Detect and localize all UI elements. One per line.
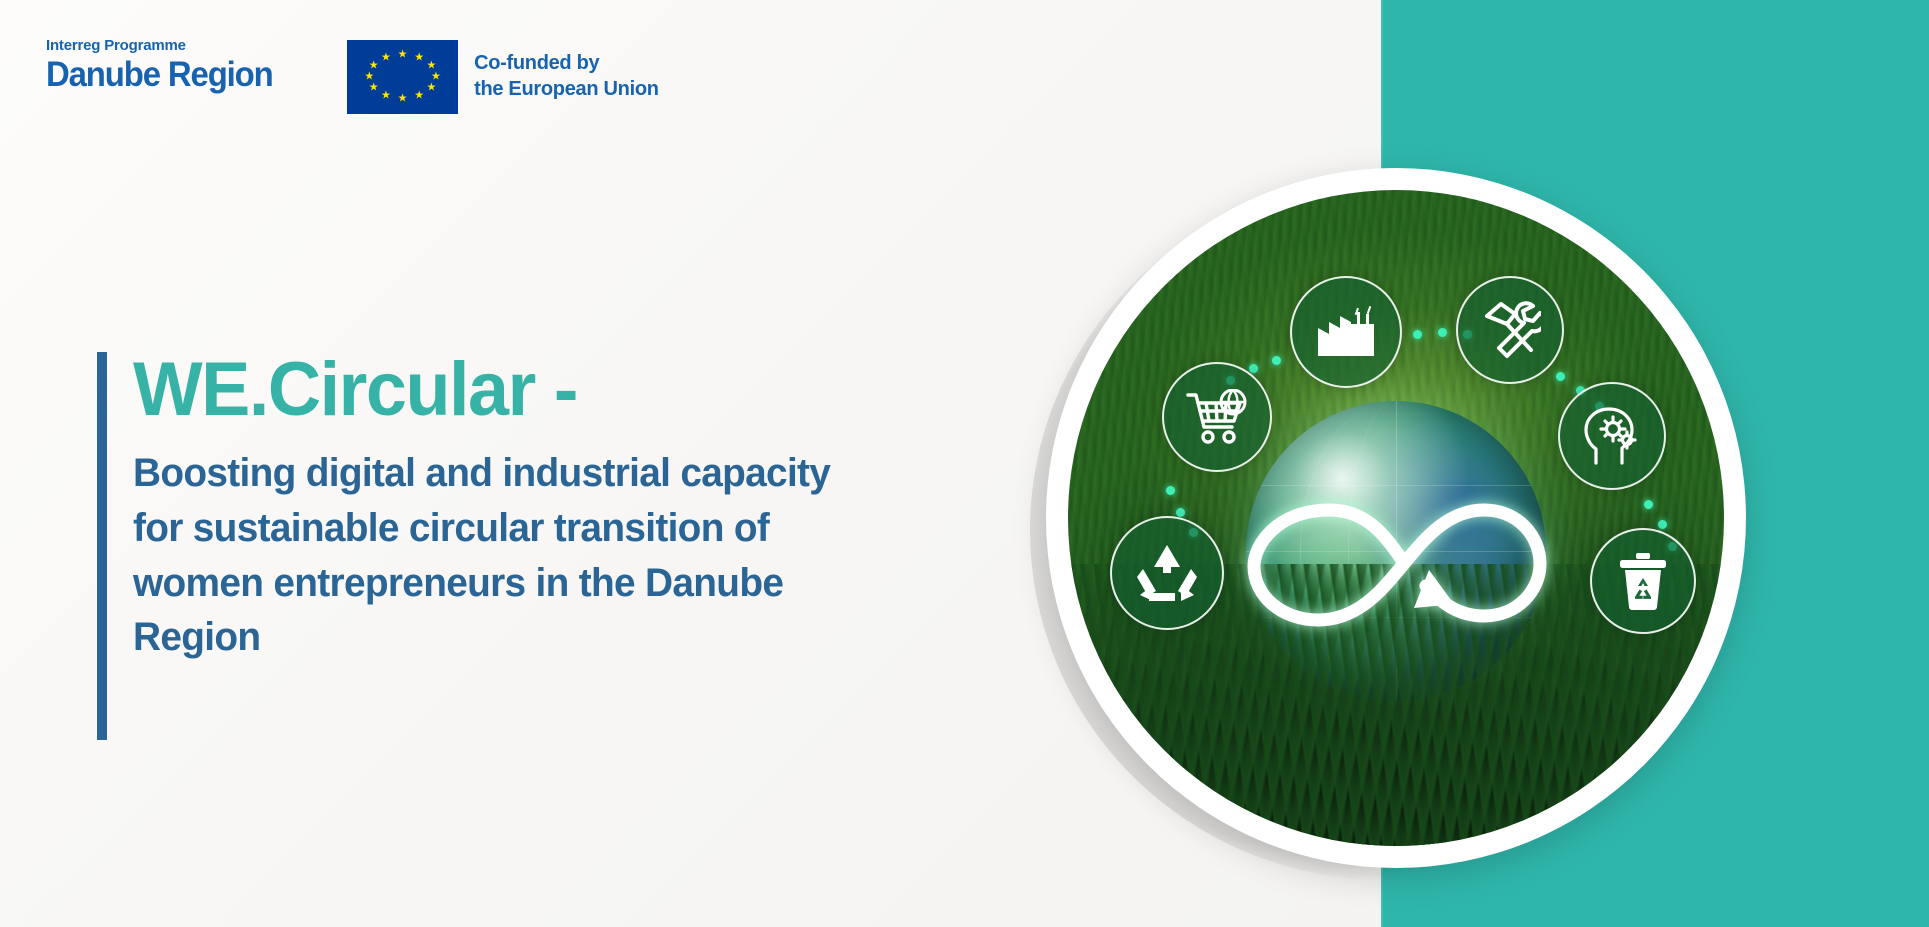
trash-recycle-icon xyxy=(1590,528,1696,634)
factory-icon xyxy=(1290,276,1402,388)
interreg-danube-region-logo[interactable]: Interreg Programme Danube Region xyxy=(46,30,287,92)
eu-cofunded-line1: Co-funded by xyxy=(474,51,659,77)
eu-cofunded-text: Co-funded by the European Union xyxy=(474,51,659,102)
eu-cofunded-logo[interactable]: ★★★★★★★★★★★★ Co-funded by the European U… xyxy=(347,30,659,114)
text-block: WE.Circular - Boosting digital and indus… xyxy=(97,352,863,740)
eu-star-icon: ★ xyxy=(397,94,408,105)
circle-photo xyxy=(1068,190,1724,846)
page-title: WE.Circular - xyxy=(133,352,841,428)
eu-star-icon: ★ xyxy=(380,91,391,102)
eu-star-icon: ★ xyxy=(364,72,375,83)
banner: Interreg Programme Danube Region ★★★★★★★… xyxy=(0,0,1929,927)
eu-star-icon: ★ xyxy=(368,83,379,94)
eu-star-icon: ★ xyxy=(426,83,437,94)
page-subtitle: Boosting digital and industrial capacity… xyxy=(133,446,841,665)
danube-region-label: Danube Region xyxy=(46,57,273,93)
accent-bar xyxy=(97,352,107,740)
eu-star-icon: ★ xyxy=(414,91,425,102)
recycle-icon xyxy=(1110,516,1224,630)
head-gears-icon xyxy=(1558,382,1666,490)
eu-star-icon: ★ xyxy=(397,49,408,60)
shopping-cart-globe-icon xyxy=(1162,362,1272,472)
logo-bar: Interreg Programme Danube Region ★★★★★★★… xyxy=(46,30,659,114)
eu-star-icon: ★ xyxy=(414,52,425,63)
eu-flag-icon: ★★★★★★★★★★★★ xyxy=(347,40,458,114)
circular-economy-loop-icon xyxy=(1226,474,1566,654)
interreg-programme-label: Interreg Programme xyxy=(46,38,287,55)
hammer-wrench-icon xyxy=(1456,276,1564,384)
circular-hero-image xyxy=(1046,168,1746,868)
eu-cofunded-line2: the European Union xyxy=(474,77,659,103)
eu-star-icon: ★ xyxy=(368,60,379,71)
eu-star-icon: ★ xyxy=(380,52,391,63)
